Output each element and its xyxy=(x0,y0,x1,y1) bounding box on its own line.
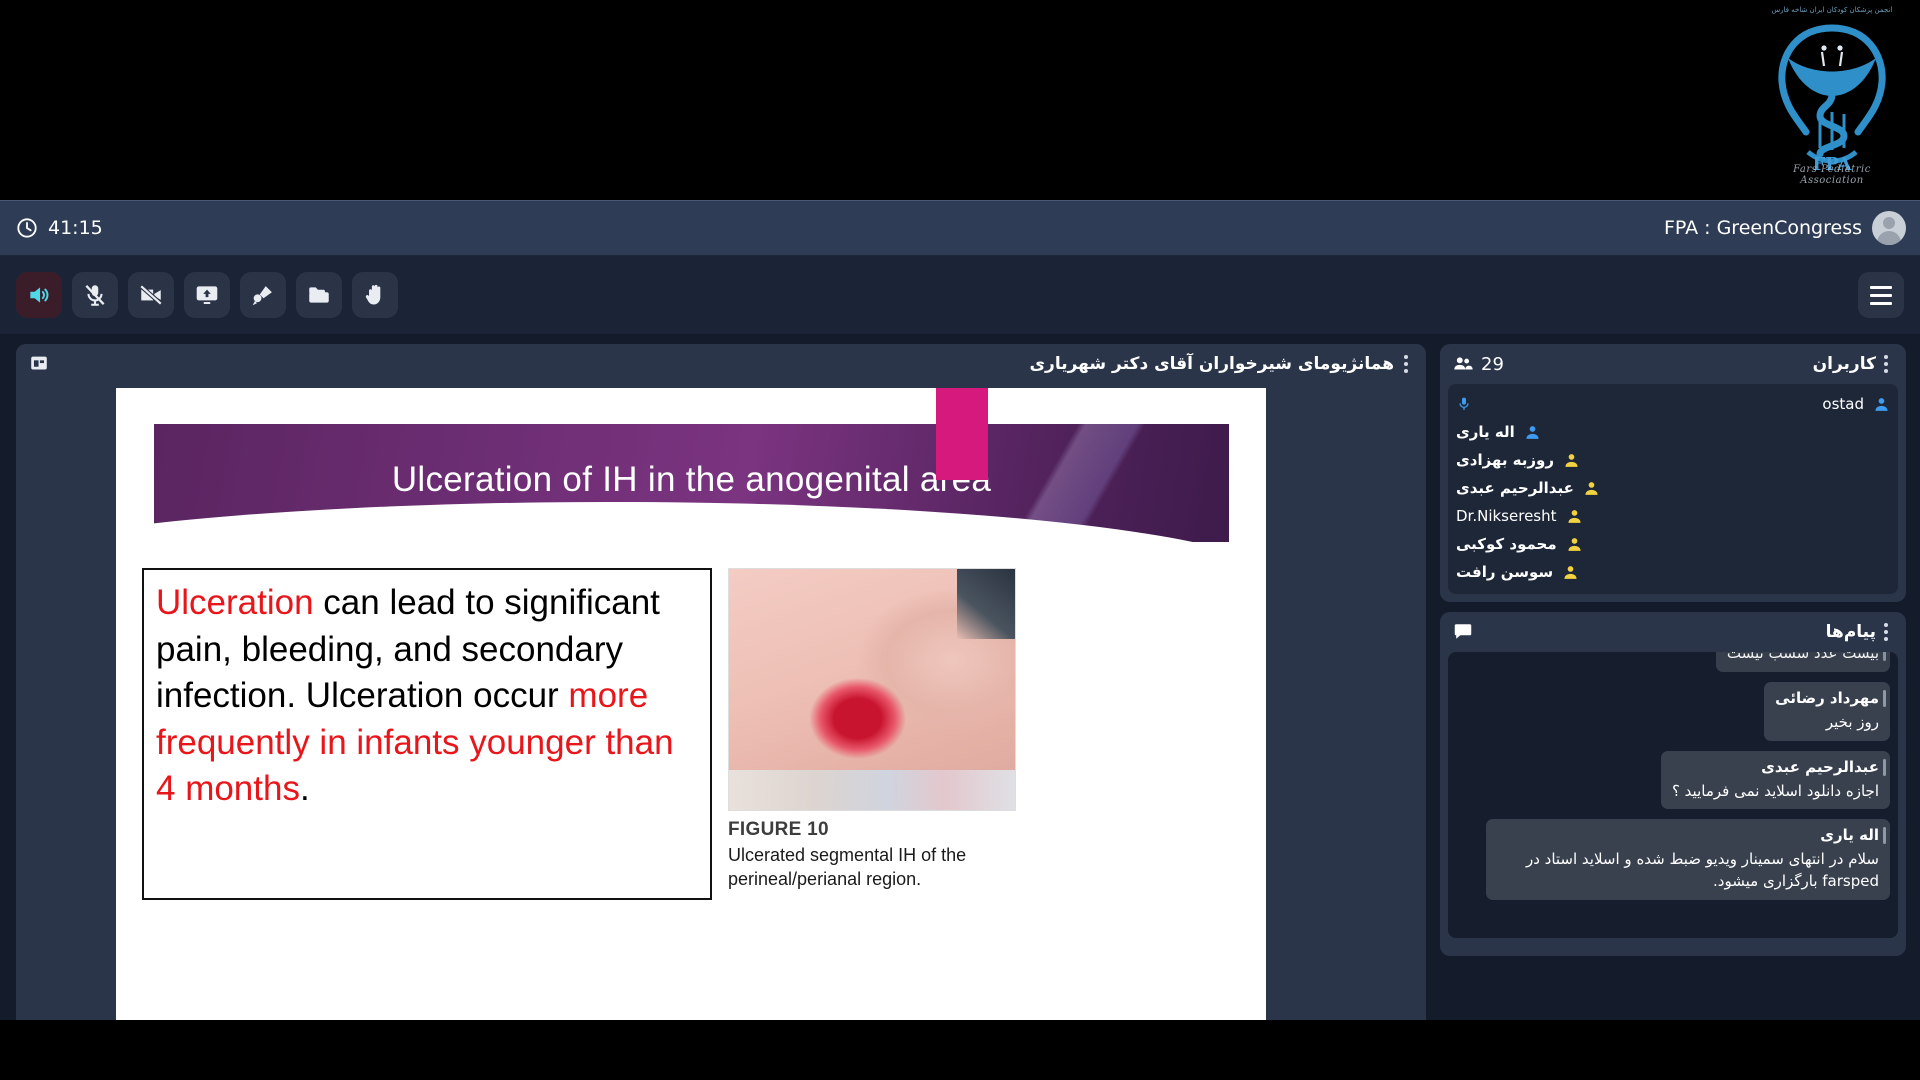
slide-figure: FIGURE 10 Ulcerated segmental IH of the … xyxy=(728,568,1018,892)
photo-shadow-region xyxy=(957,569,1015,639)
users-list: ostad اله یاری روزبه بهزادی عبدالرحیم عب… xyxy=(1448,384,1898,594)
message-body: روز بخیر xyxy=(1775,712,1879,734)
people-icon xyxy=(1452,353,1474,375)
user-list-item[interactable]: روزبه بهزادی xyxy=(1456,446,1890,474)
slide-body-part-1: Ulceration xyxy=(156,583,314,622)
presentation-title: همانژیومای شیرخواران آقای دکتر شهریاری xyxy=(1029,354,1394,374)
person-icon xyxy=(1566,536,1583,553)
user-list-item[interactable]: عبدالرحیم عبدی xyxy=(1456,474,1890,502)
pink-accent-tab xyxy=(936,388,988,480)
message-bubble[interactable]: عبدالرحیم عبدیاجازه دانلود اسلاید نمی فر… xyxy=(1661,751,1890,810)
users-panel-title: کاربران xyxy=(1813,354,1876,374)
user-name: سوسن رافت xyxy=(1456,563,1553,581)
messages-panel-header: پیام‌ها xyxy=(1440,612,1906,652)
camera-off-icon xyxy=(138,282,164,308)
fpa-logo-arc-text: انجمن پزشکان کودکان ایران شاخه فارس xyxy=(1762,6,1902,14)
messages-options-icon[interactable] xyxy=(1884,623,1888,641)
raise-hand-button[interactable] xyxy=(352,272,398,318)
person-icon xyxy=(1524,424,1541,441)
user-list-item[interactable]: Dr.Nikseresht xyxy=(1456,502,1890,530)
user-list-item[interactable]: ostad xyxy=(1456,390,1890,418)
message-author: مهرداد رضائی xyxy=(1775,689,1879,707)
meeting-app: انجمن پزشکان کودکان ایران شاخه فارس xyxy=(0,0,1920,1080)
microphone-button[interactable] xyxy=(72,272,118,318)
chat-icon xyxy=(1452,621,1474,643)
messages-panel: پیام‌ها بیست عدد شسب نیستمهرداد رضائیروز… xyxy=(1440,612,1906,956)
message-body: سلام در انتهای سمینار ویدیو ضبط شده و اس… xyxy=(1497,849,1879,893)
session-timer: 41:15 xyxy=(16,217,103,239)
figure-caption: Ulcerated segmental IH of the perineal/p… xyxy=(728,844,1018,892)
avatar[interactable] xyxy=(1872,211,1906,245)
right-sidebar: 29 کاربران ostad اله یاری روزبه بهزادی ع… xyxy=(1440,344,1906,1020)
user-list-item[interactable]: اله یاری xyxy=(1456,418,1890,446)
toolbar-buttons xyxy=(16,272,398,318)
fpa-logo: انجمن پزشکان کودکان ایران شاخه فارس xyxy=(1762,2,1902,192)
users-panel-header-right: کاربران xyxy=(1813,354,1894,374)
person-icon xyxy=(1563,452,1580,469)
brush-icon xyxy=(250,282,276,308)
person-icon xyxy=(1562,564,1579,581)
user-name: Dr.Nikseresht xyxy=(1456,507,1557,525)
slide-text-box: Ulceration can lead to significant pain,… xyxy=(142,568,712,900)
user-name: ostad xyxy=(1822,395,1864,413)
user-list-item[interactable]: محمود کوکبی xyxy=(1456,530,1890,558)
user-name: اله یاری xyxy=(1456,423,1515,441)
message-body: اجازه دانلود اسلاید نمی فرمایید ؟ xyxy=(1672,781,1879,803)
person-icon xyxy=(1583,480,1600,497)
slide-body-text: Ulceration can lead to significant pain,… xyxy=(156,580,698,813)
user-name: محمود کوکبی xyxy=(1456,535,1557,553)
speaker-icon xyxy=(26,282,52,308)
message-body: بیست عدد شسب نیست xyxy=(1727,652,1879,665)
users-panel: 29 کاربران ostad اله یاری روزبه بهزادی ع… xyxy=(1440,344,1906,602)
photo-blanket-region xyxy=(729,770,1016,810)
microphone-active-icon xyxy=(1456,394,1472,414)
timer-value: 41:15 xyxy=(48,217,103,239)
user-count: 29 xyxy=(1452,353,1504,375)
message-bubble[interactable]: مهرداد رضائیروز بخیر xyxy=(1764,682,1890,741)
microphone-muted-icon xyxy=(82,282,108,308)
message-bubble[interactable]: بیست عدد شسب نیست xyxy=(1716,652,1890,672)
slide-banner: Ulceration of IH in the anogenital area xyxy=(154,424,1229,542)
control-toolbar xyxy=(0,256,1920,334)
app-header: 41:15 FPA : GreenCongress xyxy=(0,200,1920,256)
whiteboard-pen-button[interactable] xyxy=(240,272,286,318)
account-label: FPA : GreenCongress xyxy=(1664,217,1862,239)
raise-hand-icon xyxy=(362,282,388,308)
screen-share-icon xyxy=(194,282,220,308)
main-area: همانژیومای شیرخواران آقای دکتر شهریاری U… xyxy=(0,334,1920,1020)
person-icon xyxy=(1566,508,1583,525)
presentation-options-icon[interactable] xyxy=(1404,355,1408,373)
slide-canvas[interactable]: Ulceration of IH in the anogenital area … xyxy=(116,388,1266,1020)
users-options-icon[interactable] xyxy=(1884,355,1888,373)
slide-banner-title: Ulceration of IH in the anogenital area xyxy=(154,424,1229,542)
messages-list[interactable]: بیست عدد شسب نیستمهرداد رضائیروز بخیرعبد… xyxy=(1448,652,1898,938)
ulcerated-hemangioma-photo xyxy=(728,568,1016,811)
presentation-header: همانژیومای شیرخواران آقای دکتر شهریاری xyxy=(16,344,1426,384)
clock-icon xyxy=(16,217,38,239)
user-name: عبدالرحیم عبدی xyxy=(1456,479,1574,497)
user-count-value: 29 xyxy=(1481,354,1504,375)
message-author: اله یاری xyxy=(1497,826,1879,844)
figure-label: FIGURE 10 xyxy=(728,819,1018,841)
user-name: روزبه بهزادی xyxy=(1456,451,1554,469)
person-icon xyxy=(1873,396,1890,413)
hamburger-menu-icon[interactable] xyxy=(1858,272,1904,318)
presentation-panel: همانژیومای شیرخواران آقای دکتر شهریاری U… xyxy=(16,344,1426,1020)
account-chip[interactable]: FPA : GreenCongress xyxy=(1664,211,1906,245)
message-author: عبدالرحیم عبدی xyxy=(1672,758,1879,776)
fpa-logo-subtitle: Fars Pediatric Association xyxy=(1762,164,1902,186)
slide-body-part-4: . xyxy=(300,769,310,808)
speaker-button[interactable] xyxy=(16,272,62,318)
camera-button[interactable] xyxy=(128,272,174,318)
message-bubble[interactable]: اله یاریسلام در انتهای سمینار ویدیو ضبط … xyxy=(1486,819,1890,900)
messages-panel-title: پیام‌ها xyxy=(1826,622,1876,642)
figure-caption-block: FIGURE 10 Ulcerated segmental IH of the … xyxy=(728,819,1018,892)
presentation-header-right: همانژیومای شیرخواران آقای دکتر شهریاری xyxy=(1029,354,1414,374)
messages-panel-header-right: پیام‌ها xyxy=(1826,622,1894,642)
share-screen-button[interactable] xyxy=(184,272,230,318)
users-panel-header: 29 کاربران xyxy=(1440,344,1906,384)
top-banner-area: انجمن پزشکان کودکان ایران شاخه فارس xyxy=(0,0,1920,200)
folder-icon xyxy=(306,282,332,308)
user-list-item[interactable]: سوسن رافت xyxy=(1456,558,1890,586)
files-button[interactable] xyxy=(296,272,342,318)
presentation-icon xyxy=(28,353,50,375)
